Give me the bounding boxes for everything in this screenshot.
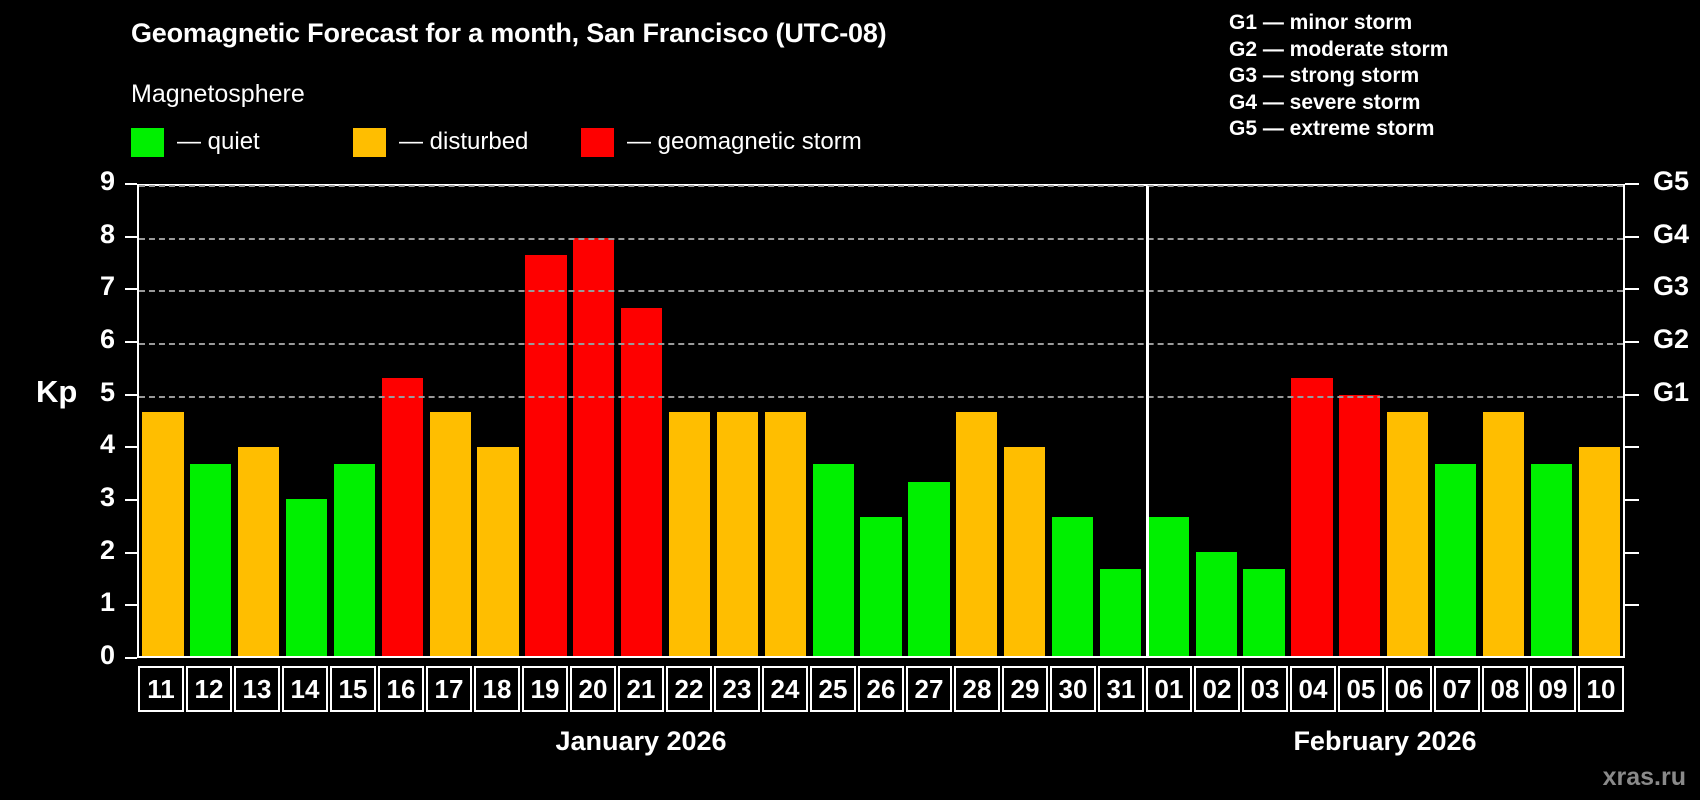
date-cell-25[interactable]: 25	[810, 666, 856, 712]
bar-cell	[474, 186, 522, 656]
bar-22	[669, 412, 710, 656]
bar-27	[908, 482, 949, 656]
y-tick-label: 4	[55, 429, 115, 460]
plot-area	[137, 184, 1625, 658]
watermark: xras.ru	[1603, 763, 1686, 792]
bar-24	[765, 412, 806, 656]
date-cell-05[interactable]: 05	[1338, 666, 1384, 712]
y-tick	[125, 341, 137, 343]
bar-cell	[1049, 186, 1097, 656]
bar-16	[382, 378, 423, 656]
bar-cell	[570, 186, 618, 656]
y-tick	[125, 183, 137, 185]
legend-label: — disturbed	[399, 128, 528, 156]
y-tick	[125, 394, 137, 396]
date-cell-20[interactable]: 20	[570, 666, 616, 712]
bar-26	[860, 517, 901, 656]
bar-28	[956, 412, 997, 656]
date-cell-04[interactable]: 04	[1290, 666, 1336, 712]
gridline	[139, 396, 1623, 398]
bar-15	[334, 464, 375, 656]
bar-07	[1435, 464, 1476, 656]
y-tick-label: 8	[55, 219, 115, 250]
bar-01	[1148, 517, 1189, 656]
bar-cell	[187, 186, 235, 656]
bar-cell	[1288, 186, 1336, 656]
bar-cell	[809, 186, 857, 656]
storm-scale-row-3: G3 — strong storm	[1229, 63, 1448, 90]
bar-12	[190, 464, 231, 656]
gridline	[139, 238, 1623, 240]
bar-cell	[331, 186, 379, 656]
bar-cell	[618, 186, 666, 656]
storm-scale-row-4: G4 — severe storm	[1229, 90, 1448, 117]
bar-25	[813, 464, 854, 656]
y-tick-label: 9	[55, 166, 115, 197]
bar-13	[238, 447, 279, 656]
bar-20	[573, 238, 614, 656]
y-tick-label: 5	[55, 377, 115, 408]
right-tick	[1625, 499, 1639, 501]
bar-14	[286, 499, 327, 656]
y-tick	[125, 288, 137, 290]
bar-04	[1291, 378, 1332, 656]
bar-cell	[761, 186, 809, 656]
bar-02	[1196, 552, 1237, 656]
date-cell-07[interactable]: 07	[1434, 666, 1480, 712]
y-tick-label: 7	[55, 271, 115, 302]
right-tick-label-G1: G1	[1653, 377, 1689, 408]
bar-18	[477, 447, 518, 656]
date-cell-17[interactable]: 17	[426, 666, 472, 712]
date-cell-16[interactable]: 16	[378, 666, 424, 712]
storm-scale-row-1: G1 — minor storm	[1229, 10, 1448, 37]
date-cell-02[interactable]: 02	[1194, 666, 1240, 712]
y-tick	[125, 446, 137, 448]
bar-cell	[1336, 186, 1384, 656]
month-separator	[1146, 186, 1149, 656]
date-cell-10[interactable]: 10	[1578, 666, 1624, 712]
month-label-0: January 2026	[137, 726, 1145, 757]
legend-swatch-icon	[353, 128, 386, 157]
bar-19	[525, 255, 566, 656]
page-title: Geomagnetic Forecast for a month, San Fr…	[131, 18, 886, 49]
bar-cell	[666, 186, 714, 656]
storm-scale-legend: G1 — minor stormG2 — moderate stormG3 — …	[1229, 10, 1448, 143]
bar-05	[1339, 395, 1380, 656]
right-tick-label-G4: G4	[1653, 219, 1689, 250]
right-tick	[1625, 236, 1639, 238]
right-tick	[1625, 446, 1639, 448]
bar-11	[142, 412, 183, 656]
geomagnetic-forecast-chart: Geomagnetic Forecast for a month, San Fr…	[0, 0, 1700, 800]
y-tick-label: 0	[55, 640, 115, 671]
bar-29	[1004, 447, 1045, 656]
legend-swatch-icon	[131, 128, 164, 157]
bar-10	[1579, 447, 1620, 656]
date-cell-23[interactable]: 23	[714, 666, 760, 712]
bar-21	[621, 308, 662, 656]
date-cell-27[interactable]: 27	[906, 666, 952, 712]
date-cell-15[interactable]: 15	[330, 666, 376, 712]
date-axis: 1112131415161718192021222324252627282930…	[137, 666, 1625, 712]
magnetosphere-label: Magnetosphere	[131, 80, 305, 109]
date-cell-14[interactable]: 14	[282, 666, 328, 712]
y-tick	[125, 552, 137, 554]
month-label-1: February 2026	[1145, 726, 1625, 757]
bar-08	[1483, 412, 1524, 656]
date-cell-03[interactable]: 03	[1242, 666, 1288, 712]
date-cell-29[interactable]: 29	[1002, 666, 1048, 712]
gridline	[139, 343, 1623, 345]
gridline	[139, 185, 1623, 187]
bar-cell	[283, 186, 331, 656]
bar-06	[1387, 412, 1428, 656]
date-cell-08[interactable]: 08	[1482, 666, 1528, 712]
date-cell-11[interactable]: 11	[138, 666, 184, 712]
bar-cell	[1001, 186, 1049, 656]
right-tick	[1625, 604, 1639, 606]
date-cell-31[interactable]: 31	[1098, 666, 1144, 712]
bar-cell	[235, 186, 283, 656]
bar-30	[1052, 517, 1093, 656]
date-cell-26[interactable]: 26	[858, 666, 904, 712]
legend-item-0: — quiet	[131, 126, 260, 158]
storm-scale-row-2: G2 — moderate storm	[1229, 37, 1448, 64]
y-tick-label: 2	[55, 535, 115, 566]
bar-cell	[1192, 186, 1240, 656]
y-tick	[125, 236, 137, 238]
right-tick	[1625, 341, 1639, 343]
y-tick	[125, 499, 137, 501]
bar-cell	[953, 186, 1001, 656]
legend-label: — quiet	[177, 128, 260, 156]
date-cell-22[interactable]: 22	[666, 666, 712, 712]
legend-item-2: — geomagnetic storm	[581, 126, 862, 158]
bar-cell	[426, 186, 474, 656]
bar-cell	[1240, 186, 1288, 656]
legend-swatch-icon	[581, 128, 614, 157]
bar-cell	[1432, 186, 1480, 656]
bar-09	[1531, 464, 1572, 656]
date-cell-13[interactable]: 13	[234, 666, 280, 712]
right-tick-label-G2: G2	[1653, 324, 1689, 355]
date-cell-09[interactable]: 09	[1530, 666, 1576, 712]
y-tick	[125, 657, 137, 659]
bar-cell	[1384, 186, 1432, 656]
bar-cell	[522, 186, 570, 656]
bar-cell	[1480, 186, 1528, 656]
bar-cell	[905, 186, 953, 656]
bar-cell	[1575, 186, 1623, 656]
gridline	[139, 290, 1623, 292]
storm-scale-row-5: G5 — extreme storm	[1229, 116, 1448, 143]
right-tick-label-G5: G5	[1653, 166, 1689, 197]
date-cell-28[interactable]: 28	[954, 666, 1000, 712]
right-tick	[1625, 552, 1639, 554]
bar-cell	[378, 186, 426, 656]
date-cell-06[interactable]: 06	[1386, 666, 1432, 712]
bar-cell	[139, 186, 187, 656]
bar-03	[1243, 569, 1284, 656]
legend-item-1: — disturbed	[353, 126, 528, 158]
bar-cell	[857, 186, 905, 656]
bar-31	[1100, 569, 1141, 656]
right-tick-label-G3: G3	[1653, 271, 1689, 302]
date-cell-24[interactable]: 24	[762, 666, 808, 712]
y-tick-label: 3	[55, 482, 115, 513]
bar-cell	[1527, 186, 1575, 656]
bar-23	[717, 412, 758, 656]
right-tick	[1625, 183, 1639, 185]
y-tick	[125, 604, 137, 606]
bar-cell	[714, 186, 762, 656]
legend-label: — geomagnetic storm	[627, 128, 862, 156]
date-cell-21[interactable]: 21	[618, 666, 664, 712]
date-cell-12[interactable]: 12	[186, 666, 232, 712]
right-tick	[1625, 394, 1639, 396]
right-tick	[1625, 288, 1639, 290]
bar-17	[430, 412, 471, 656]
bar-cell	[1144, 186, 1192, 656]
y-tick-label: 6	[55, 324, 115, 355]
date-cell-19[interactable]: 19	[522, 666, 568, 712]
bar-cell	[1097, 186, 1145, 656]
date-cell-18[interactable]: 18	[474, 666, 520, 712]
y-tick-label: 1	[55, 587, 115, 618]
date-cell-30[interactable]: 30	[1050, 666, 1096, 712]
date-cell-01[interactable]: 01	[1146, 666, 1192, 712]
